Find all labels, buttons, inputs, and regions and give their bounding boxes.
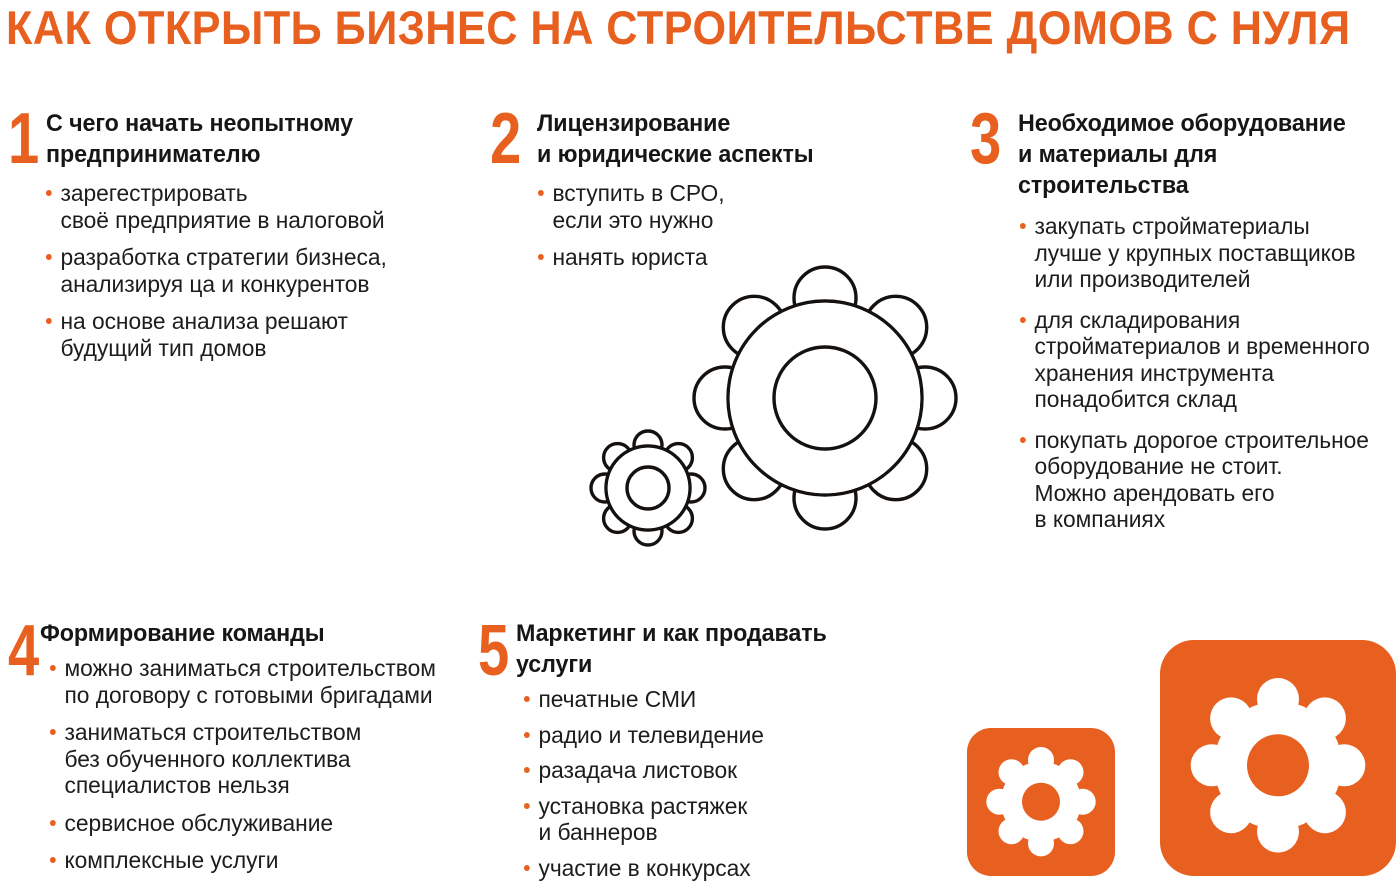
list-item: для складирования стройматериалов и врем… (1018, 307, 1391, 413)
list-item: можно заниматься строительством по догов… (48, 655, 465, 708)
list-item: нанять юриста (536, 244, 905, 271)
step-bullet-list-4: можно заниматься строительством по догов… (48, 655, 478, 874)
step-bullet-list-1: зарегестрировать своё предприятие в нало… (44, 180, 464, 361)
list-item: установка растяжек и баннеров (522, 793, 891, 846)
step-header-1: 1 С чего начать неопытному предпринимате… (8, 108, 468, 170)
step-heading-4: Формирование команды (40, 618, 456, 649)
list-item: на основе анализа решают будущий тип дом… (44, 308, 451, 361)
step-number-2: 2 (490, 108, 521, 170)
step-header-2: 2 Лицензирование и юридические аспекты (490, 108, 920, 170)
step-block-3: 3 Необходимое оборудование и материалы д… (970, 108, 1400, 547)
small-gear-badge-icon (967, 728, 1115, 876)
list-item: заниматься строительством без обученного… (48, 719, 465, 799)
step-block-2: 2 Лицензирование и юридические аспекты в… (490, 108, 920, 282)
list-item: комплексные услуги (48, 847, 465, 874)
large-gear-badge-icon (1160, 640, 1396, 876)
step-block-5: 5 Маркетинг и как продавать услуги печат… (478, 618, 898, 890)
list-item: покупать дорогое строительное оборудован… (1018, 427, 1391, 533)
small-gear-outline-icon (591, 431, 705, 545)
step-heading-2: Лицензирование и юридические аспекты (537, 108, 901, 170)
step-number-4: 4 (8, 620, 39, 682)
step-number-1: 1 (8, 108, 39, 170)
list-item: радио и телевидение (522, 722, 891, 749)
step-header-5: 5 Маркетинг и как продавать услуги (478, 618, 898, 680)
gear-outline-illustration (560, 236, 1000, 566)
step-header-4: 4 Формирование команды (8, 618, 478, 649)
step-heading-1: С чего начать неопытному предпринимателю (46, 108, 447, 170)
step-header-3: 3 Необходимое оборудование и материалы д… (970, 108, 1400, 201)
list-item: вступить в СРО, если это нужно (536, 180, 905, 233)
step-number-5: 5 (478, 620, 509, 682)
list-item: сервисное обслуживание (48, 810, 465, 837)
list-item: закупать стройматериалы лучше у крупных … (1018, 213, 1391, 293)
step-heading-3: Необходимое оборудование и материалы для… (1018, 108, 1381, 201)
gear-badge-illustration (955, 630, 1400, 880)
step-bullet-list-2: вступить в СРО, если это нужно нанять юр… (536, 180, 916, 271)
list-item: печатные СМИ (522, 686, 891, 713)
step-block-4: 4 Формирование команды можно заниматься … (8, 618, 478, 885)
step-block-1: 1 С чего начать неопытному предпринимате… (8, 108, 468, 372)
list-item: разадача листовок (522, 757, 891, 784)
large-gear-outline-icon (694, 267, 956, 529)
page-title: КАК ОТКРЫТЬ БИЗНЕС НА СТРОИТЕЛЬСТВЕ ДОМО… (6, 2, 1285, 54)
step-bullet-list-5: печатные СМИ радио и телевидение разадач… (522, 686, 902, 881)
list-item: разработка стратегии бизнеса, анализируя… (44, 244, 451, 297)
step-number-3: 3 (970, 108, 1001, 170)
step-bullet-list-3: закупать стройматериалы лучше у крупных … (1018, 213, 1400, 533)
step-heading-5: Маркетинг и как продавать услуги (516, 618, 879, 680)
list-item: участие в конкурсах (522, 855, 891, 882)
list-item: зарегестрировать своё предприятие в нало… (44, 180, 451, 233)
